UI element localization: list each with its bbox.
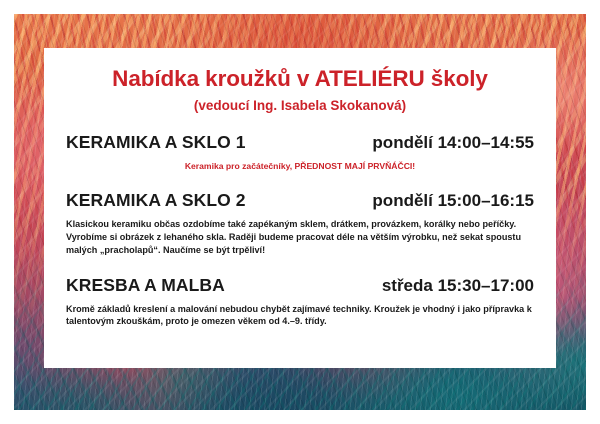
- course-name: KRESBA A MALBA: [66, 275, 225, 296]
- course-note: Keramika pro začátečníky, PŘEDNOST MAJÍ …: [66, 161, 534, 172]
- page-subtitle: (vedoucí Ing. Isabela Skokanová): [66, 98, 534, 114]
- course-entry: KERAMIKA A SKLO 1 pondělí 14:00–14:55 Ke…: [66, 132, 534, 172]
- course-entry: KRESBA A MALBA středa 15:30–17:00 Kromě …: [66, 275, 534, 329]
- course-header: KERAMIKA A SKLO 1 pondělí 14:00–14:55: [66, 132, 534, 153]
- course-name: KERAMIKA A SKLO 2: [66, 190, 246, 211]
- page-title: Nabídka kroužků v ATELIÉRU školy: [66, 66, 534, 92]
- course-description: Klasickou keramiku občas ozdobíme také z…: [66, 218, 534, 257]
- course-header: KRESBA A MALBA středa 15:30–17:00: [66, 275, 534, 296]
- course-time: pondělí 15:00–16:15: [372, 191, 534, 211]
- course-description: Kromě základů kreslení a malování nebudo…: [66, 303, 534, 329]
- course-time: pondělí 14:00–14:55: [372, 133, 534, 153]
- course-name: KERAMIKA A SKLO 1: [66, 132, 246, 153]
- course-time: středa 15:30–17:00: [382, 276, 534, 296]
- content-panel: Nabídka kroužků v ATELIÉRU školy (vedouc…: [44, 48, 556, 368]
- course-entry: KERAMIKA A SKLO 2 pondělí 15:00–16:15 Kl…: [66, 190, 534, 257]
- course-header: KERAMIKA A SKLO 2 pondělí 15:00–16:15: [66, 190, 534, 211]
- poster-artwork: Nabídka kroužků v ATELIÉRU školy (vedouc…: [14, 14, 586, 410]
